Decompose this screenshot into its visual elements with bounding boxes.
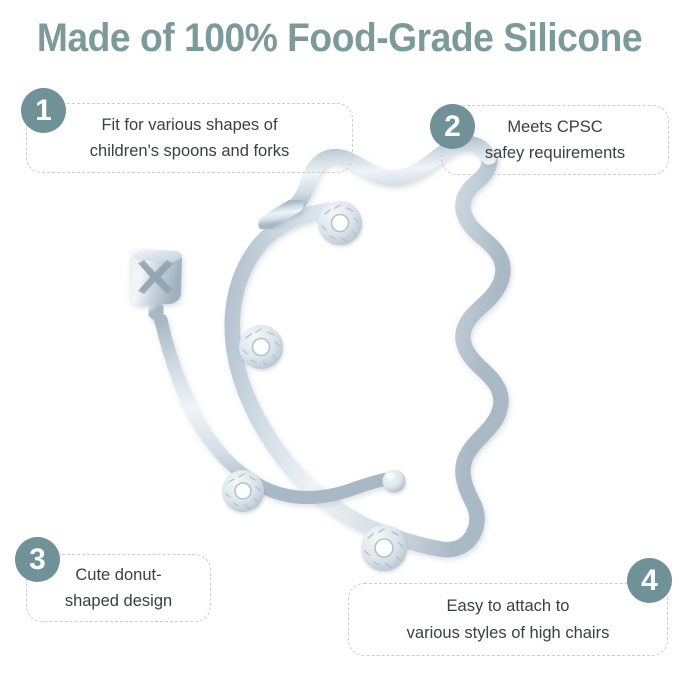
callout-text-3: Cute donut- shaped design [57, 562, 180, 614]
badge-number-2: 2 [430, 104, 475, 149]
callout-text-4: Easy to attach to various styles of high… [399, 593, 618, 645]
badge-number-1: 1 [21, 88, 66, 133]
callout-box-2: Meets CPSC safey requirements [441, 105, 669, 175]
callout-box-4: Easy to attach to various styles of high… [348, 583, 668, 656]
callout-box-1: Fit for various shapes of children's spo… [26, 103, 353, 173]
callout-text-2: Meets CPSC safey requirements [477, 114, 633, 166]
callout-text-1: Fit for various shapes of children's spo… [82, 112, 297, 164]
page-title: Made of 100% Food-Grade Silicone [24, 16, 655, 61]
badge-number-4: 4 [627, 558, 672, 603]
infographic-page: Made of 100% Food-Grade Silicone Fit for… [0, 0, 679, 679]
badge-number-3: 3 [15, 537, 60, 582]
